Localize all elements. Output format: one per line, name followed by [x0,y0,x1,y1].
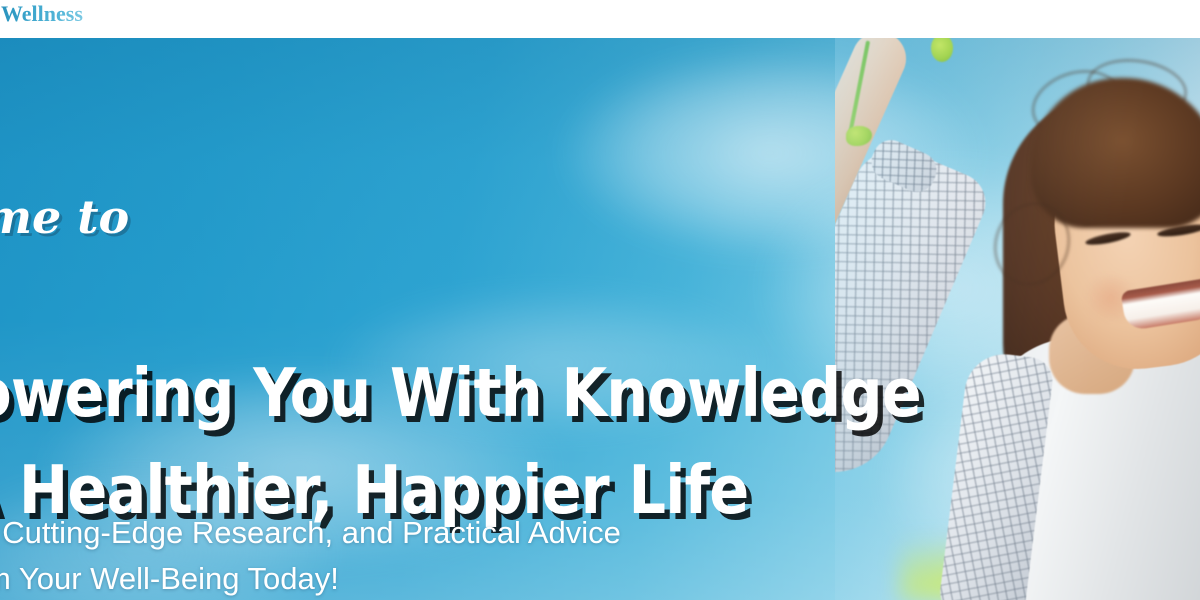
hero-subcopy-line-2: To Transform Your Well-Being Today! [0,556,920,600]
page-root: Naturals Wellness [0,0,1200,600]
hero-banner: Welcome to Empowering You With Knowledge… [0,38,1200,600]
hero-eyebrow: Welcome to [0,190,129,244]
hero-subcopy-line-1: Expert Tips, Cutting-Edge Research, and … [0,510,920,556]
site-logo-text[interactable]: Naturals Wellness [0,1,83,27]
flower-bud-icon [931,38,953,62]
hero-subcopy: Expert Tips, Cutting-Edge Research, and … [0,510,920,600]
hero-headline-line-1: Empowering You With Knowledge [0,345,789,442]
site-header: Naturals Wellness [0,0,1200,38]
